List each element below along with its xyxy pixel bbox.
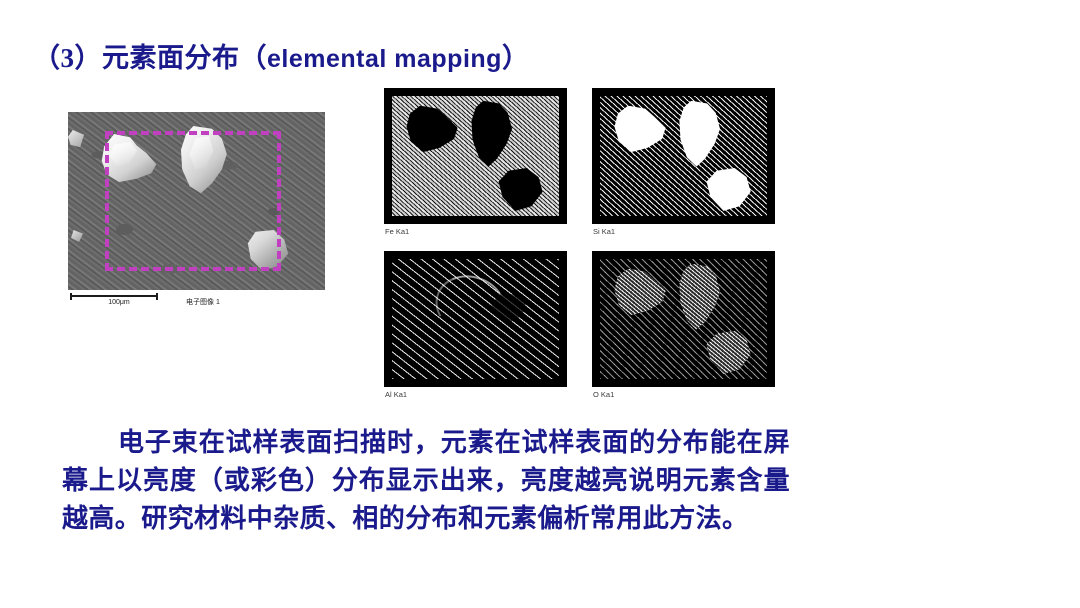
map-label-si: Si Ka1 xyxy=(593,227,615,237)
map-panel-si[interactable]: Si Ka1 xyxy=(592,88,775,240)
map-image-fe xyxy=(392,96,559,216)
map-panel-o[interactable]: O Ka1 xyxy=(592,251,775,403)
sem-electron-image-figure: 100μm 电子图像 1 xyxy=(68,112,325,306)
sem-image-caption: 电子图像 1 xyxy=(186,298,220,307)
map-label-fe: Fe Ka1 xyxy=(385,227,409,237)
map-frame-fe xyxy=(384,88,567,224)
map-image-o xyxy=(600,259,767,379)
map-frame-o xyxy=(592,251,775,387)
roi-selection-box[interactable] xyxy=(105,131,281,271)
map-frame-al xyxy=(384,251,567,387)
slide-canvas: （3）元素面分布（elemental mapping） 100μm 电子图像 1 xyxy=(0,0,1080,608)
body-paragraph: 电子束在试样表面扫描时，元素在试样表面的分布能在屏幕上以亮度（或彩色）分布显示出… xyxy=(62,424,790,538)
map-image-al xyxy=(392,259,559,379)
page-title-prefix: （3）元素面分布（ xyxy=(33,43,267,73)
page-title-latin: elemental mapping xyxy=(267,45,502,73)
map-label-o: O Ka1 xyxy=(593,390,614,400)
sem-particle-edge-top xyxy=(68,130,84,150)
page-title-suffix: ） xyxy=(502,43,530,73)
map-frame-si xyxy=(592,88,775,224)
sem-footer: 100μm 电子图像 1 xyxy=(68,292,325,308)
sem-particle-edge-left xyxy=(70,230,83,242)
map-image-si xyxy=(600,96,767,216)
map-label-al: Al Ka1 xyxy=(385,390,407,400)
map-panel-fe[interactable]: Fe Ka1 xyxy=(384,88,567,240)
elemental-map-grid: Fe Ka1 Si Ka1 A xyxy=(384,88,780,403)
sem-image xyxy=(68,112,325,290)
page-title: （3）元素面分布（elemental mapping） xyxy=(33,41,529,76)
scale-bar-label: 100μm xyxy=(84,298,154,307)
map-panel-al[interactable]: Al Ka1 xyxy=(384,251,567,403)
